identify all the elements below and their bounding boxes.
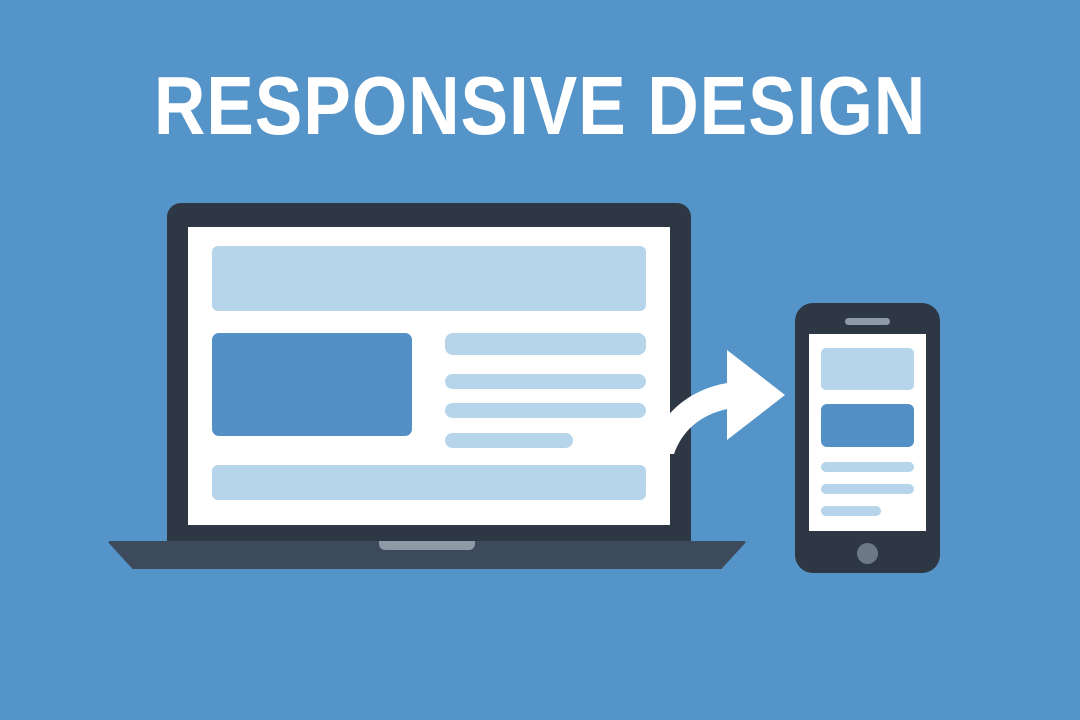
phone-page-header-block [821, 348, 914, 390]
phone-page-text-line [821, 484, 914, 494]
laptop-trackpad-notch [379, 541, 475, 550]
phone-device [795, 303, 940, 573]
phone-speaker-grille [845, 318, 890, 325]
page-title: RESPONSIVE DESIGN [76, 64, 1005, 147]
phone-page-text-line [821, 462, 914, 472]
laptop-page-text-line [445, 403, 646, 418]
phone-screen [809, 334, 926, 531]
phone-page-text-line [821, 506, 881, 516]
laptop-lid [167, 203, 691, 543]
laptop-screen [188, 227, 670, 525]
laptop-page-text-line [445, 333, 646, 355]
laptop-page-text-line [445, 374, 646, 389]
phone-home-button[interactable] [857, 543, 878, 564]
laptop-page-text-line [445, 433, 573, 448]
curved-right-arrow-icon [645, 332, 790, 457]
responsive-design-illustration: RESPONSIVE DESIGN [0, 0, 1080, 720]
phone-page-image-block [821, 404, 914, 447]
laptop-page-image-block [212, 333, 412, 436]
laptop-page-footer-block [212, 465, 646, 500]
laptop-page-header-block [212, 246, 646, 311]
